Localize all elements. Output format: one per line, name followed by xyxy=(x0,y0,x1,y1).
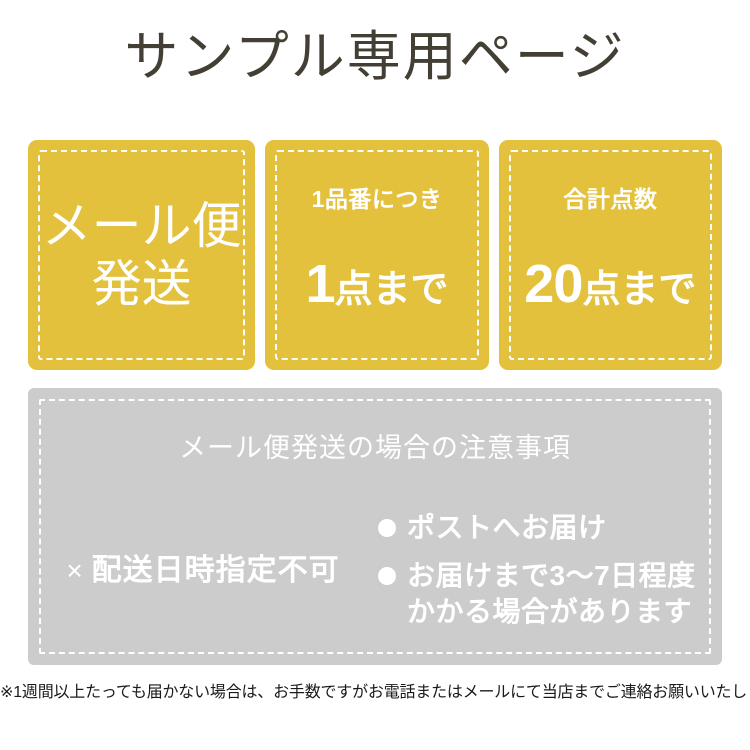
card-shipping-method-line1: メール便 xyxy=(28,197,255,255)
notice-heading: メール便発送の場合の注意事項 xyxy=(28,431,722,465)
card-per-item-limit-number: 1 xyxy=(305,254,334,314)
card-total-limit-heading: 合計点数 xyxy=(499,185,722,213)
notice-no-date-designation: ×配送日時指定不可 xyxy=(66,552,339,590)
card-total-limit-unit: 点まで xyxy=(582,269,696,311)
page-title: サンプル専用ページ xyxy=(0,26,750,88)
sample-shipping-banner: サンプル専用ページ メール便 発送 1品番につき 1点まで 合計点数 xyxy=(0,0,750,750)
card-per-item-limit-unit: 点まで xyxy=(335,269,449,311)
info-cards-row: メール便 発送 1品番につき 1点まで 合計点数 20点まで xyxy=(28,140,722,370)
list-item-label: お届けまで3〜7日程度 xyxy=(407,560,696,591)
bullet-dot-icon xyxy=(378,567,396,585)
notice-panel: メール便発送の場合の注意事項 ×配送日時指定不可 ポストへお届け お届けまで3〜… xyxy=(28,388,722,665)
card-total-limit: 合計点数 20点まで xyxy=(499,140,722,370)
card-per-item-limit: 1品番につき 1点まで xyxy=(265,140,488,370)
notice-left-column: ×配送日時指定不可 xyxy=(28,506,378,636)
card-shipping-method-content: メール便 発送 xyxy=(28,197,255,313)
bullet-dot-icon xyxy=(378,519,396,537)
card-total-limit-value: 20点まで xyxy=(499,257,722,317)
list-item-label-continued: かかる場合があります xyxy=(407,594,696,630)
card-total-limit-number: 20 xyxy=(524,254,582,314)
notice-right-column: ポストへお届け お届けまで3〜7日程度 かかる場合があります xyxy=(378,506,722,642)
card-shipping-method-line2: 発送 xyxy=(28,255,255,313)
card-per-item-limit-content: 1品番につき 1点まで xyxy=(265,193,488,317)
list-item-label: ポストへお届け xyxy=(407,510,607,546)
cross-icon: × xyxy=(66,555,83,586)
card-per-item-limit-heading: 1品番につき xyxy=(265,185,488,213)
list-item-label-group: お届けまで3〜7日程度 かかる場合があります xyxy=(407,558,696,630)
notice-body: ×配送日時指定不可 ポストへお届け お届けまで3〜7日程度 かかる場合があります xyxy=(28,506,722,636)
notice-no-date-designation-label: 配送日時指定不可 xyxy=(92,554,340,587)
card-per-item-limit-value: 1点まで xyxy=(265,257,488,317)
card-total-limit-content: 合計点数 20点まで xyxy=(499,193,722,317)
list-item: ポストへお届け xyxy=(378,510,722,546)
list-item: お届けまで3〜7日程度 かかる場合があります xyxy=(378,558,722,630)
card-shipping-method: メール便 発送 xyxy=(28,140,255,370)
footer-note: ※1週間以上たっても届かない場合は、お手数ですがお電話またはメールにて当店までご… xyxy=(0,682,750,704)
